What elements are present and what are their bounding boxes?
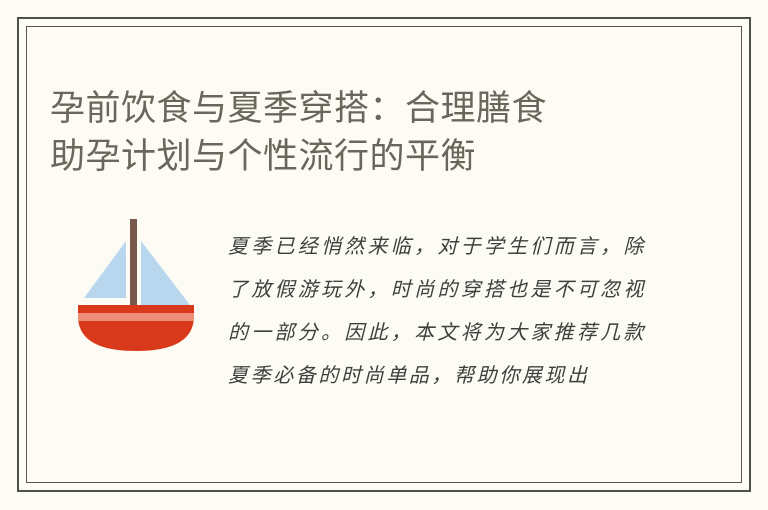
article-body-region: 夏季已经悄然来临，对于学生们而言，除了放假游玩外，时尚的穿搭也是不可忽视的一部分… (50, 205, 718, 470)
article-card: 孕前饮食与夏季穿搭：合理膳食 助孕计划与个性流行的平衡 夏季已经悄然来临，对于学… (0, 0, 768, 510)
page-title: 孕前饮食与夏季穿搭：合理膳食 助孕计划与个性流行的平衡 (50, 85, 670, 181)
sailboat-icon (68, 213, 204, 353)
article-body-text: 夏季已经悄然来临，对于学生们而言，除了放假游玩外，时尚的穿搭也是不可忽视的一部分… (228, 225, 646, 475)
